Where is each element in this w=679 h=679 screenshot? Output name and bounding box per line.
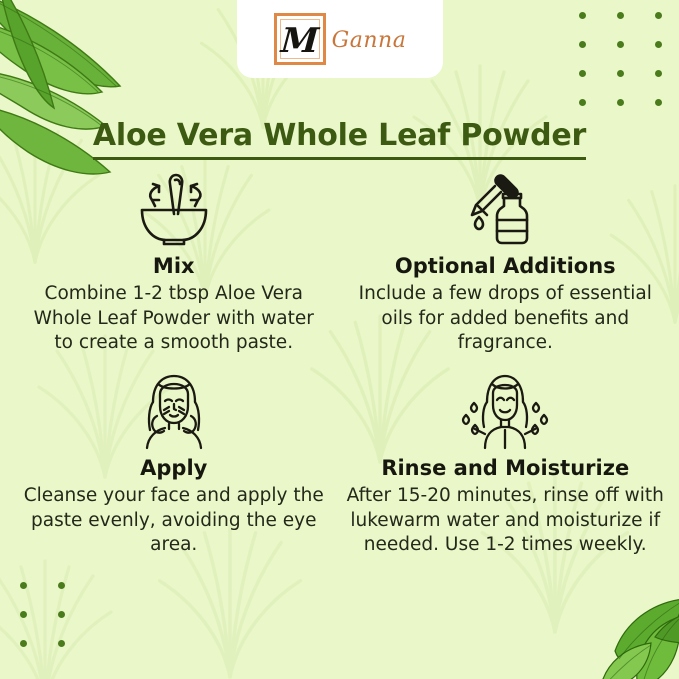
decor-dot bbox=[20, 640, 27, 647]
dot-grid-bottom-left bbox=[20, 582, 65, 647]
decor-dot bbox=[579, 41, 586, 48]
mortar-bowl-mixing-icon bbox=[131, 168, 217, 248]
step-body: Cleanse your face and apply the paste ev… bbox=[24, 484, 324, 558]
step-heading: Rinse and Moisturize bbox=[381, 456, 629, 480]
decor-dot bbox=[617, 70, 624, 77]
step-body: Combine 1-2 tbsp Aloe Vera Whole Leaf Po… bbox=[24, 282, 324, 356]
brand-name: Ganna bbox=[332, 28, 407, 53]
page-title: Aloe Vera Whole Leaf Powder bbox=[0, 118, 679, 160]
dot-grid-top-right bbox=[579, 12, 662, 106]
decor-dot bbox=[579, 12, 586, 19]
decor-dot bbox=[58, 640, 65, 647]
decor-dot bbox=[655, 41, 662, 48]
step-card-optional-additions: Optional Additions Include a few drops o… bbox=[344, 168, 668, 356]
brand-monogram-box: M bbox=[274, 13, 326, 65]
step-body: Include a few drops of essential oils fo… bbox=[345, 282, 665, 356]
decor-dot bbox=[617, 99, 624, 106]
brand-monogram-letter: M bbox=[280, 24, 320, 58]
step-body: After 15-20 minutes, rinse off with luke… bbox=[345, 484, 665, 558]
decor-dot bbox=[20, 582, 27, 589]
green-leaves-bottom-right bbox=[579, 577, 679, 679]
decor-dot bbox=[58, 582, 65, 589]
face-apply-cream-icon bbox=[131, 370, 217, 450]
step-heading: Mix bbox=[153, 254, 195, 278]
decor-dot bbox=[20, 611, 27, 618]
aloe-leaves-top-left bbox=[0, 0, 200, 190]
decor-dot bbox=[617, 41, 624, 48]
steps-grid: Mix Combine 1-2 tbsp Aloe Vera Whole Lea… bbox=[0, 168, 679, 558]
face-rinse-water-icon bbox=[459, 370, 551, 450]
step-card-apply: Apply Cleanse your face and apply the pa… bbox=[12, 370, 336, 558]
aloe-vera-infographic: M Ganna Aloe Vera Whole Leaf Powder bbox=[0, 0, 679, 679]
step-card-mix: Mix Combine 1-2 tbsp Aloe Vera Whole Lea… bbox=[12, 168, 336, 356]
decor-dot bbox=[58, 611, 65, 618]
decor-dot bbox=[655, 99, 662, 106]
step-heading: Optional Additions bbox=[395, 254, 616, 278]
decor-dot bbox=[655, 70, 662, 77]
decor-dot bbox=[579, 70, 586, 77]
step-heading: Apply bbox=[140, 456, 207, 480]
dropper-bottle-icon bbox=[462, 168, 548, 248]
page-title-text: Aloe Vera Whole Leaf Powder bbox=[93, 118, 586, 160]
step-card-rinse-moisturize: Rinse and Moisturize After 15-20 minutes… bbox=[344, 370, 668, 558]
brand-logo-card: M Ganna bbox=[237, 0, 443, 78]
decor-dot bbox=[655, 12, 662, 19]
decor-dot bbox=[579, 99, 586, 106]
decor-dot bbox=[617, 12, 624, 19]
